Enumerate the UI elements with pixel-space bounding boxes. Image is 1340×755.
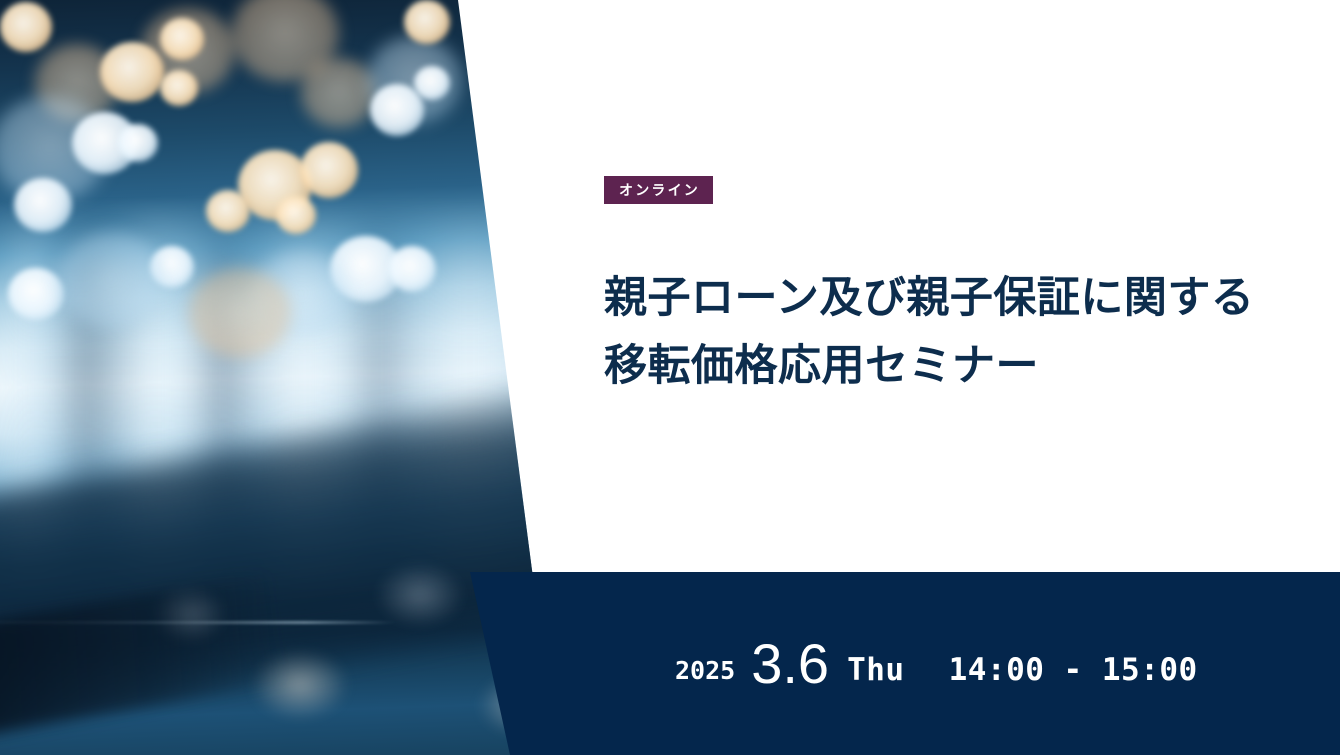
event-year: 2025 <box>675 656 735 685</box>
seminar-banner: オンライン 親子ローン及び親子保証に関する 移転価格応用セミナー 2025 3.… <box>0 0 1340 755</box>
event-datetime-bar: 2025 3.6 Thu 14:00 - 15:00 <box>440 572 1340 755</box>
page-title-line-1: 親子ローン及び親子保証に関する <box>604 264 1304 332</box>
event-time-range: 14:00 - 15:00 <box>949 652 1198 688</box>
page-title: 親子ローン及び親子保証に関する 移転価格応用セミナー <box>604 264 1304 400</box>
status-badge-online: オンライン <box>604 176 713 204</box>
event-date: 3.6 <box>751 631 829 696</box>
event-datetime-group: 2025 3.6 Thu 14:00 - 15:00 <box>675 572 1198 755</box>
event-day-of-week: Thu <box>847 652 905 688</box>
page-title-line-2: 移転価格応用セミナー <box>604 332 1304 400</box>
